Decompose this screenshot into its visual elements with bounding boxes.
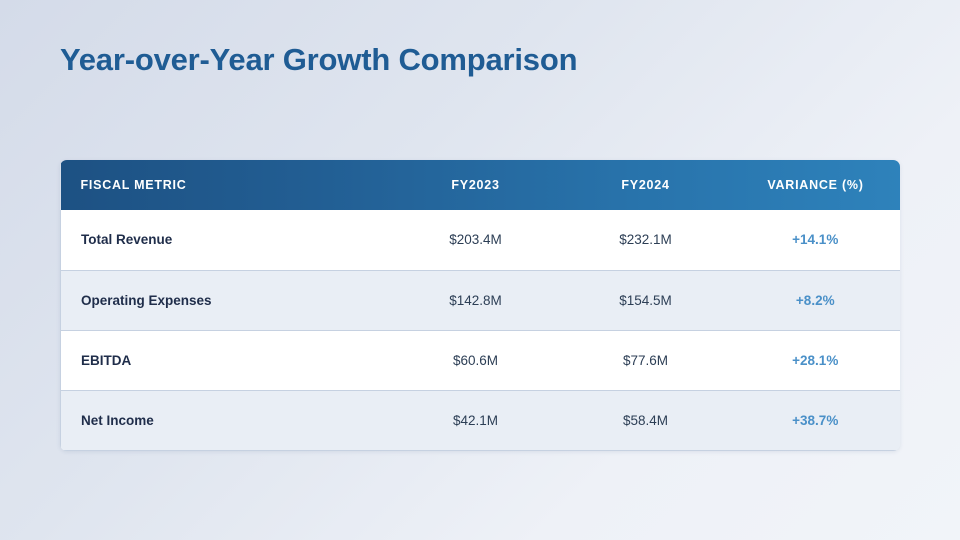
column-header-fy2023[interactable]: FY2023 — [391, 160, 561, 210]
table-row[interactable]: Total Revenue $203.4M $232.1M +14.1% — [61, 210, 901, 270]
comparison-table-card: FISCAL METRIC FY2023 FY2024 VARIANCE (%)… — [60, 160, 900, 451]
cell-metric: EBITDA — [61, 330, 391, 390]
page-title: Year-over-Year Growth Comparison — [60, 42, 577, 78]
cell-metric: Operating Expenses — [61, 270, 391, 330]
cell-fy2023: $142.8M — [391, 270, 561, 330]
table-row[interactable]: Operating Expenses $142.8M $154.5M +8.2% — [61, 270, 901, 330]
cell-fy2024: $77.6M — [561, 330, 731, 390]
table-header: FISCAL METRIC FY2023 FY2024 VARIANCE (%) — [61, 160, 901, 210]
cell-metric: Total Revenue — [61, 210, 391, 270]
column-header-variance[interactable]: VARIANCE (%) — [731, 160, 901, 210]
column-header-fy2024[interactable]: FY2024 — [561, 160, 731, 210]
cell-variance: +38.7% — [731, 390, 901, 450]
cell-variance: +14.1% — [731, 210, 901, 270]
comparison-table: FISCAL METRIC FY2023 FY2024 VARIANCE (%)… — [60, 160, 900, 451]
column-header-fiscal-metric[interactable]: FISCAL METRIC — [61, 160, 391, 210]
cell-variance: +28.1% — [731, 330, 901, 390]
table-body: Total Revenue $203.4M $232.1M +14.1% Ope… — [61, 210, 901, 450]
slide-canvas: Year-over-Year Growth Comparison FISCAL … — [0, 0, 960, 540]
cell-fy2024: $154.5M — [561, 270, 731, 330]
table-header-row: FISCAL METRIC FY2023 FY2024 VARIANCE (%) — [61, 160, 901, 210]
cell-fy2024: $232.1M — [561, 210, 731, 270]
cell-variance: +8.2% — [731, 270, 901, 330]
cell-fy2023: $60.6M — [391, 330, 561, 390]
cell-fy2023: $203.4M — [391, 210, 561, 270]
cell-metric: Net Income — [61, 390, 391, 450]
table-row[interactable]: EBITDA $60.6M $77.6M +28.1% — [61, 330, 901, 390]
cell-fy2024: $58.4M — [561, 390, 731, 450]
table-row[interactable]: Net Income $42.1M $58.4M +38.7% — [61, 390, 901, 450]
cell-fy2023: $42.1M — [391, 390, 561, 450]
